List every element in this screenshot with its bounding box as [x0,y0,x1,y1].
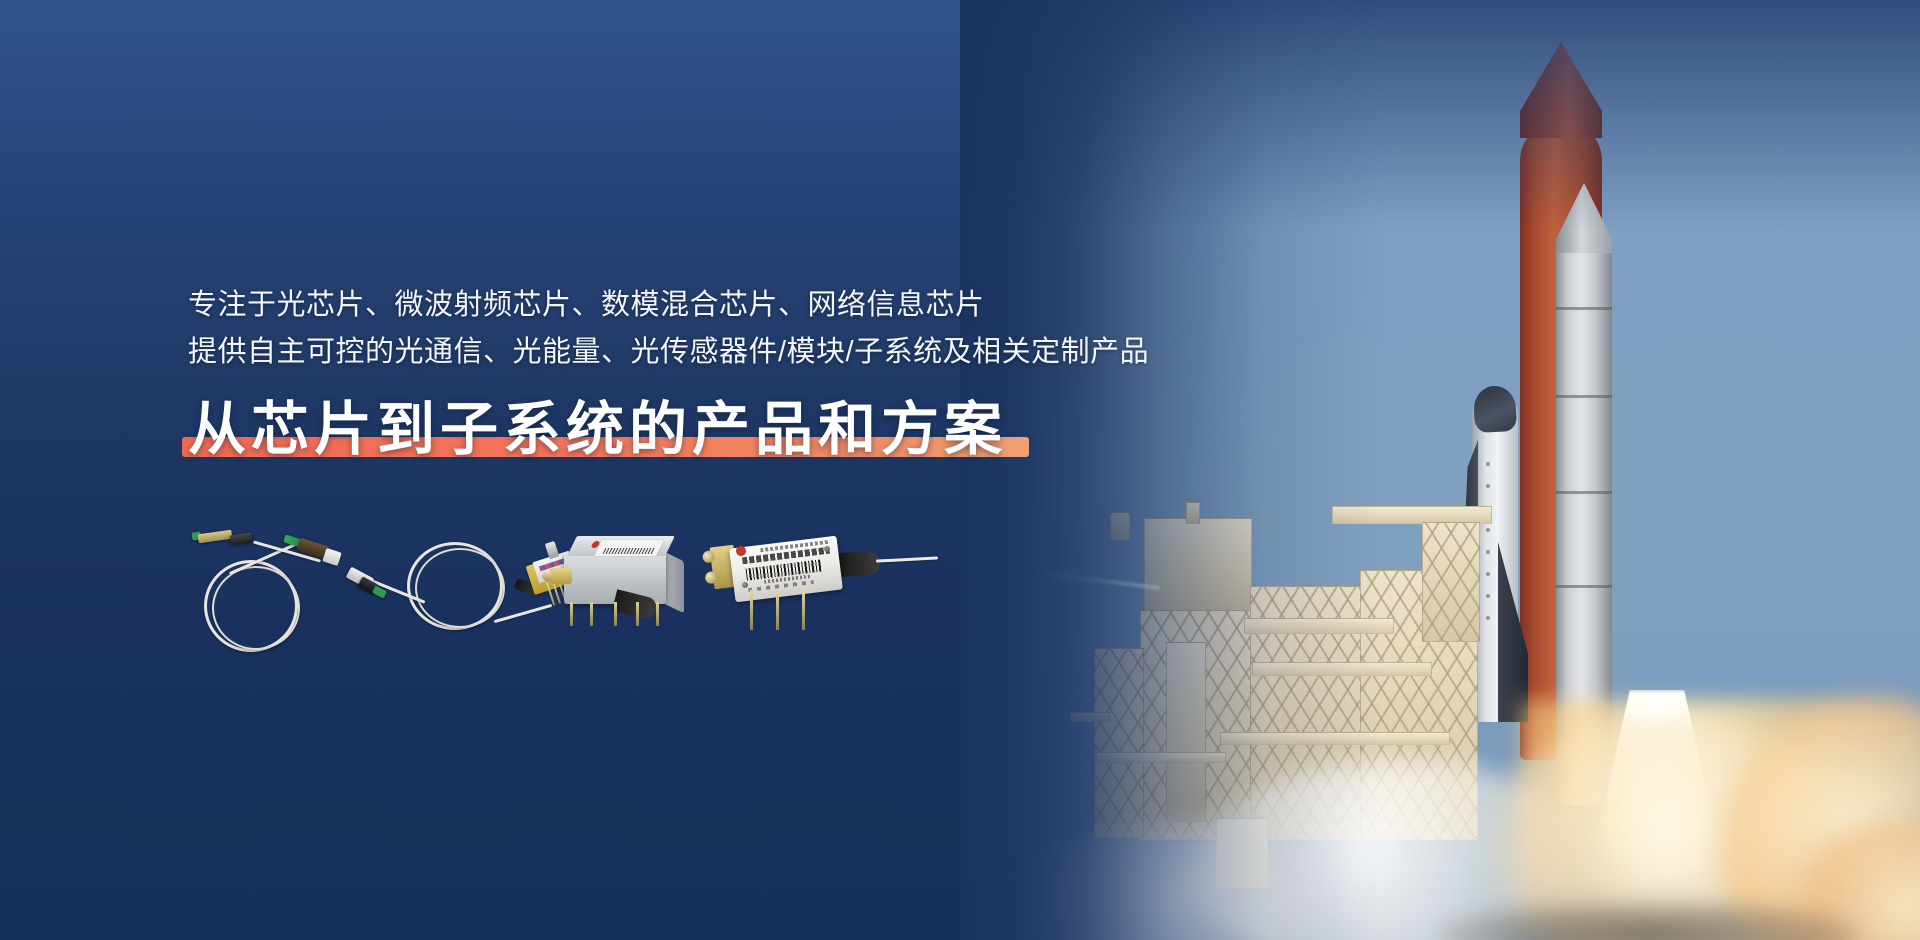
headline-wrapper: 从芯片到子系统的产品和方案 [188,396,1007,464]
hero-copy: 专注于光芯片、微波射频芯片、数模混合芯片、网络信息芯片 提供自主可控的光通信、光… [188,282,1308,464]
subtitle-line-2: 提供自主可控的光通信、光能量、光传感器件/模块/子系统及相关定制产品 [188,329,1308,376]
sma-connector [550,568,572,584]
photo-top-shade [960,0,1920,230]
fiber-patch-cord-1 [190,528,370,658]
product-image-row [190,520,1070,670]
hero-banner: 专注于光芯片、微波射频芯片、数模混合芯片、网络信息芯片 提供自主可控的光通信、光… [0,0,1920,940]
page-title: 从芯片到子系统的产品和方案 [188,396,1007,464]
rf-metal-module [558,532,698,644]
optical-receiver-module [708,524,918,654]
space-shuttle-launch-photo [960,0,1920,940]
subtitle-line-1: 专注于光芯片、微波射频芯片、数模混合芯片、网络信息芯片 [188,282,1308,329]
fiber-patch-cord-2-with-butterfly-laser [345,530,560,658]
optical-fiber-pigtail [876,556,938,562]
